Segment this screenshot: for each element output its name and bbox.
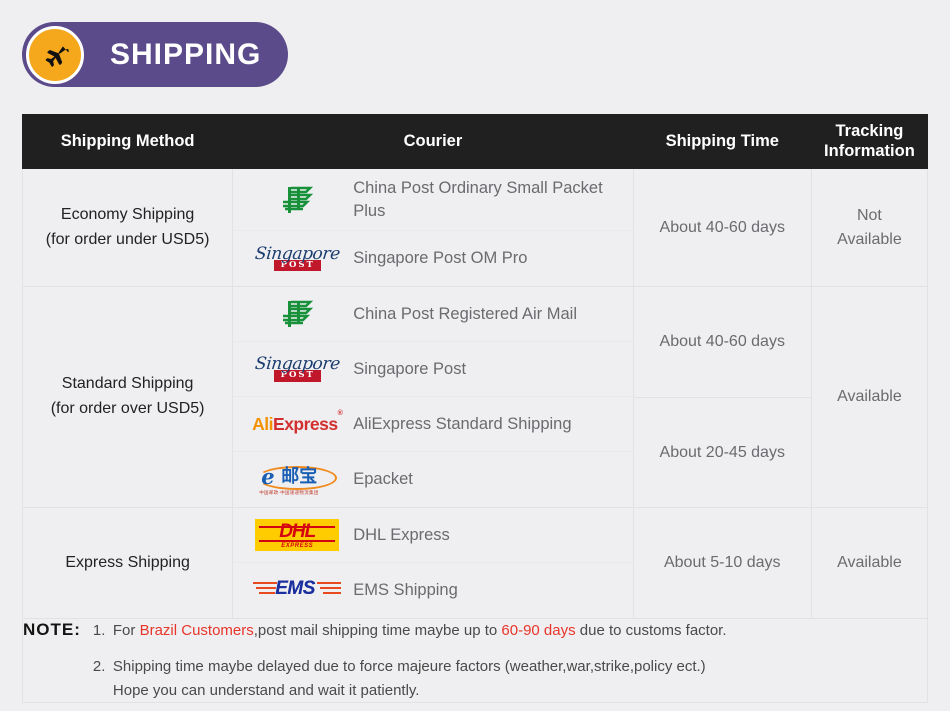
note-part3: due to customs factor.	[576, 622, 727, 639]
note-label: NOTE:	[23, 619, 81, 640]
shipping-time-standard-1: About 40-60 days	[633, 287, 811, 398]
shipping-info-page: SHIPPING Shipping Method Courier Shippin…	[0, 0, 950, 711]
tracking-line2: Available	[812, 228, 927, 251]
table-row: Standard Shipping (for order over USD5)	[23, 287, 928, 398]
note-item-2: 2. Shipping time maybe delayed due to fo…	[93, 655, 927, 702]
note-number: 2.	[93, 655, 113, 702]
method-line2: (for order over USD5)	[23, 397, 232, 422]
ems-logo: EMS	[251, 577, 343, 605]
note-part1: For	[113, 622, 140, 639]
epacket-logo: e 邮宝 中国邮政·中国速递物流集团	[251, 463, 343, 497]
ems-stripe	[259, 592, 275, 594]
note-row-container: NOTE: 1. For Brazil Customers,post mail …	[23, 619, 928, 703]
list-item: China Post Ordinary Small Packet Plus	[233, 169, 632, 231]
method-economy: Economy Shipping (for order under USD5)	[23, 169, 233, 287]
aliexpress-part2: Express	[273, 414, 338, 434]
method-line2: (for order under USD5)	[23, 228, 232, 253]
courier-name: AliExpress Standard Shipping	[353, 413, 571, 435]
header-tracking-information: Tracking Information	[811, 115, 927, 169]
singapore-post-word: Singapore	[254, 246, 341, 263]
singapore-post-logo: Singapore POST	[251, 356, 343, 382]
tracking-line1: Not	[812, 204, 927, 227]
shipping-time-economy: About 40-60 days	[633, 169, 811, 287]
airplane-badge	[26, 26, 84, 84]
table-body: Economy Shipping (for order under USD5)	[23, 169, 928, 703]
tracking-standard: Available	[811, 287, 927, 508]
courier-name: Singapore Post	[353, 358, 466, 380]
shipping-banner: SHIPPING	[22, 22, 288, 87]
dhl-sub: EXPRESS	[281, 543, 313, 549]
list-item: EMS EMS Shipping	[233, 563, 632, 618]
note-item-1: 1. For Brazil Customers,post mail shippi…	[93, 619, 927, 642]
method-line1: Standard Shipping	[23, 372, 232, 397]
courier-name: EMS Shipping	[353, 579, 458, 601]
list-item: China Post Registered Air Mail	[233, 287, 632, 342]
header-tracking-line2: Information	[824, 142, 915, 160]
epacket-cn: 邮宝	[281, 467, 317, 485]
singapore-post-logo: Singapore POST	[251, 246, 343, 272]
china-post-logo	[251, 183, 343, 217]
banner-title: SHIPPING	[110, 38, 261, 72]
shipping-time-express: About 5-10 days	[633, 508, 811, 619]
singapore-post-word: Singapore	[254, 356, 341, 373]
list-item: AliExpress® AliExpress Standard Shipping	[233, 397, 632, 452]
note-section: NOTE: 1. For Brazil Customers,post mail …	[23, 619, 928, 703]
note-line2: Hope you can understand and wait it pati…	[113, 682, 420, 699]
method-line1: Express Shipping	[23, 551, 232, 576]
dhl-text: DHL	[279, 522, 315, 541]
dhl-bar-bottom	[259, 540, 335, 542]
header-tracking-line1: Tracking	[835, 122, 903, 140]
epacket-sub: 中国邮政·中国速递物流集团	[259, 490, 318, 496]
china-post-logo	[251, 297, 343, 331]
courier-name: Singapore Post OM Pro	[353, 247, 527, 269]
epacket-e: e	[261, 466, 274, 487]
tracking-economy: Not Available	[811, 169, 927, 287]
header-shipping-method: Shipping Method	[23, 115, 233, 169]
ems-stripe	[323, 592, 341, 594]
method-standard: Standard Shipping (for order over USD5)	[23, 287, 233, 508]
note-part2: ,post mail shipping time maybe up to	[254, 622, 502, 639]
dhl-bar-top	[259, 526, 335, 528]
aliexpress-part1: Ali	[252, 414, 273, 434]
ems-text: EMS	[275, 579, 315, 598]
ems-stripe	[253, 582, 277, 584]
courier-list-economy: China Post Ordinary Small Packet Plus Si…	[233, 169, 633, 287]
list-item: DHL EXPRESS DHL Express	[233, 508, 632, 563]
courier-list-standard: China Post Registered Air Mail Singapore…	[233, 287, 633, 508]
method-line1: Economy Shipping	[23, 203, 232, 228]
header-row: Shipping Method Courier Shipping Time Tr…	[23, 115, 928, 169]
list-item: Singapore POST Singapore Post	[233, 342, 632, 397]
courier-name: China Post Ordinary Small Packet Plus	[353, 177, 632, 222]
note-text: Shipping time maybe delayed due to force…	[113, 655, 927, 702]
courier-name: DHL Express	[353, 524, 450, 546]
shipping-time-standard-2: About 20-45 days	[633, 397, 811, 508]
aliexpress-logo: AliExpress®	[251, 414, 343, 435]
courier-name: Epacket	[353, 468, 413, 490]
trademark-icon: ®	[338, 410, 343, 417]
note-number: 1.	[93, 619, 113, 642]
header-courier: Courier	[233, 115, 633, 169]
list-item: e 邮宝 中国邮政·中国速递物流集团 Epacket	[233, 452, 632, 507]
note-line1: Shipping time maybe delayed due to force…	[113, 658, 706, 675]
ems-stripe	[256, 587, 276, 589]
courier-list-express: DHL EXPRESS DHL Express	[233, 508, 633, 619]
list-item: Singapore POST Singapore Post OM Pro	[233, 231, 632, 286]
dhl-logo: DHL EXPRESS	[251, 519, 343, 551]
table-header: Shipping Method Courier Shipping Time Tr…	[23, 115, 928, 169]
method-express: Express Shipping	[23, 508, 233, 619]
shipping-table: Shipping Method Courier Shipping Time Tr…	[22, 114, 928, 703]
header-shipping-time: Shipping Time	[633, 115, 811, 169]
courier-name: China Post Registered Air Mail	[353, 303, 577, 325]
note-highlight-days: 60-90 days	[501, 622, 575, 639]
note-text: For Brazil Customers,post mail shipping …	[113, 619, 927, 642]
note-highlight-brazil: Brazil Customers	[140, 622, 254, 639]
ems-stripe	[317, 582, 341, 584]
airplane-icon	[38, 38, 72, 72]
ems-stripe	[320, 587, 341, 589]
tracking-express: Available	[811, 508, 927, 619]
